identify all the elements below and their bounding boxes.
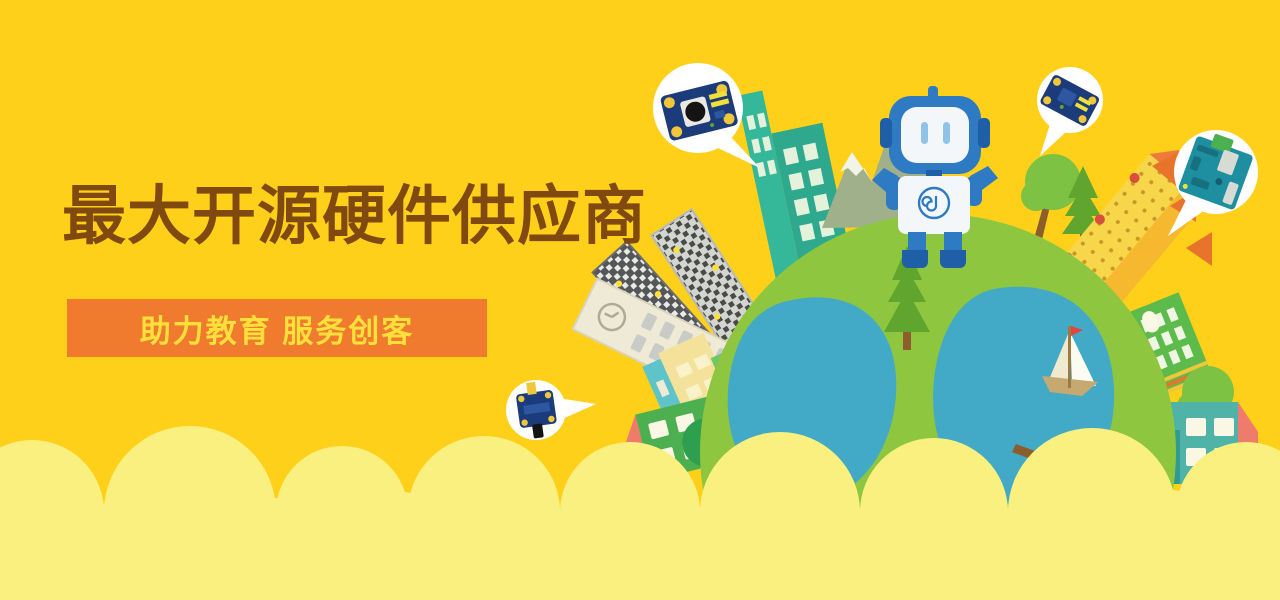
tagline-text: 助力教育 服务创客 bbox=[140, 306, 415, 351]
hero-banner: 最大开源硬件供应商 助力教育 服务创客 bbox=[0, 0, 1280, 600]
foreground-clouds bbox=[0, 426, 1280, 600]
page-title: 最大开源硬件供应商 bbox=[62, 180, 662, 252]
copy-block: 最大开源硬件供应商 助力教育 服务创客 bbox=[62, 180, 662, 370]
tagline-band: 助力教育 服务创客 bbox=[67, 299, 487, 357]
